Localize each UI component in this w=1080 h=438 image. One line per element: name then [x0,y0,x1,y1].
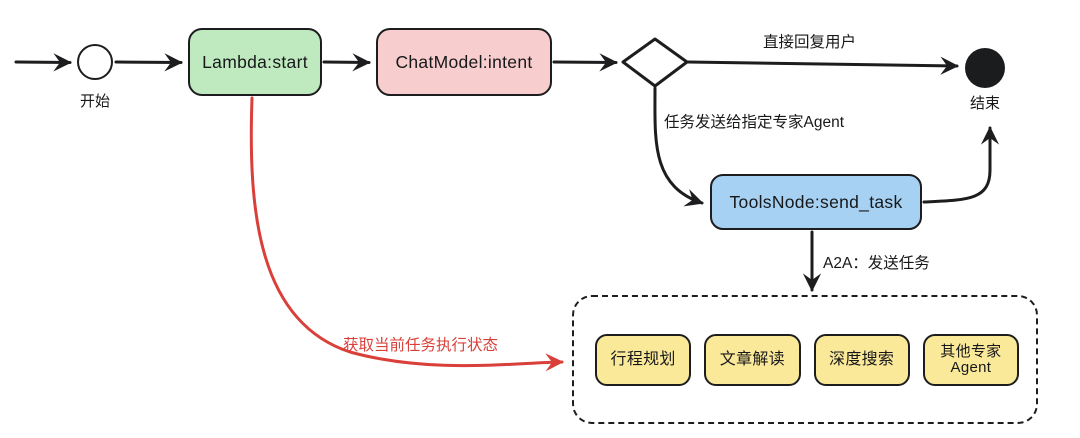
edge-tools-to-end [924,128,990,202]
expert-agent-item[interactable]: 深度搜索 [814,334,910,386]
node-toolsnode-send-task[interactable]: ToolsNode:send_task [710,174,922,230]
edge-decision-to-end [688,62,957,66]
decision-diamond-shape [623,39,687,86]
edge-decision-to-tools [655,88,702,203]
expert-agent-item-other-lines: 其他专家 Agent [940,344,1001,376]
node-chatmodel-intent[interactable]: ChatModel:intent [376,28,552,96]
node-start-label: 开始 [77,90,113,111]
edge-lambda-to-chatmodel [324,62,369,63]
edge-entry-arrow [16,62,70,63]
expert-agent-item[interactable]: 文章解读 [704,334,800,386]
edge-label-dispatch-task: 任务发送给指定专家Agent [664,110,844,132]
node-end-label: 结束 [963,92,1007,113]
edge-chatmodel-to-decision [554,62,616,63]
expert-agent-list: 行程规划 文章解读 深度搜索 其他专家 Agent [595,334,1019,386]
edge-label-fetch-status: 获取当前任务执行状态 [343,333,498,355]
node-lambda-start[interactable]: Lambda:start [188,28,322,96]
edge-start-to-lambda [116,62,181,63]
expert-agent-item[interactable]: 行程规划 [595,334,691,386]
node-start-circle [77,44,113,80]
edge-label-direct-reply: 直接回复用户 [763,30,856,52]
diagram-canvas: 开始 结束 Lambda:start ChatModel:intent Tool… [0,0,1080,438]
edge-label-a2a-send: A2A：发送任务 [823,251,930,273]
node-end-circle [965,48,1005,88]
edge-lambda-fetch-status [251,98,562,366]
expert-agent-item-other[interactable]: 其他专家 Agent [923,334,1019,386]
